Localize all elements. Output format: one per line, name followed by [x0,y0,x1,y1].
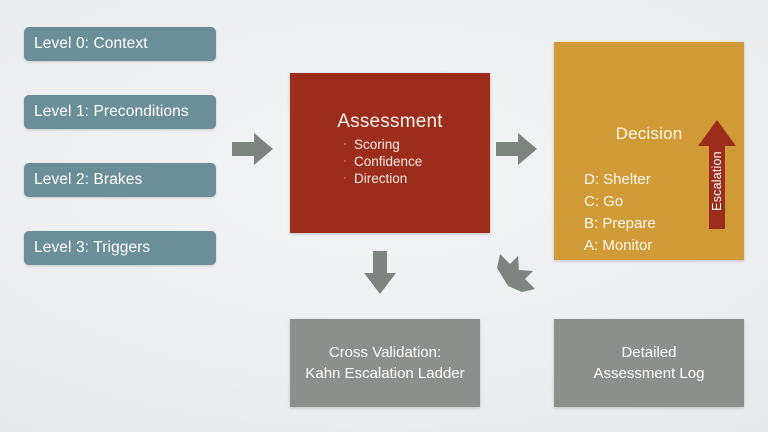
right-arrow-icon-levels-to-assessment [232,132,274,166]
bullet-dot-icon [344,160,346,162]
decision-option: A: Monitor [584,235,656,257]
diagonal-down-right-arrow-icon-decision-to-log [492,247,542,297]
level-pill-0[interactable]: Level 0: Context [24,27,216,61]
right-arrow-icon-assessment-to-decision [496,132,538,166]
decision-option: C: Go [584,191,656,213]
escalation-label: Escalation [710,151,724,211]
level-pill-1-label: Level 1: Preconditions [24,103,189,121]
level-pill-2[interactable]: Level 2: Brakes [24,163,216,197]
decision-option-list: D: Shelter C: Go B: Prepare A: Monitor [584,169,656,257]
assessment-log-line-1: Detailed [621,342,676,363]
cross-validation-line-1: Cross Validation: [329,342,441,363]
decision-box[interactable]: Decision D: Shelter C: Go B: Prepare A: … [554,42,744,260]
assessment-item-list: Scoring Confidence Direction [344,136,454,187]
assessment-item-label: Confidence [354,154,422,169]
level-pill-2-label: Level 2: Brakes [24,171,142,189]
assessment-item: Direction [344,170,454,187]
assessment-log-box[interactable]: Detailed Assessment Log [554,319,744,407]
assessment-item-label: Scoring [354,137,400,152]
bullet-dot-icon [344,143,346,145]
level-pill-3-label: Level 3: Triggers [24,239,150,257]
assessment-box[interactable]: Assessment Scoring Confidence Direction [290,73,490,233]
assessment-log-line-2: Assessment Log [594,363,705,384]
assessment-title: Assessment [337,111,442,133]
decision-option: D: Shelter [584,169,656,191]
bullet-dot-icon [344,177,346,179]
down-arrow-icon-assessment-to-cross-validation [363,251,397,295]
level-pill-1[interactable]: Level 1: Preconditions [24,95,216,129]
assessment-item-label: Direction [354,171,407,186]
cross-validation-line-2: Kahn Escalation Ladder [305,363,464,384]
assessment-item: Scoring [344,136,454,153]
cross-validation-box[interactable]: Cross Validation: Kahn Escalation Ladder [290,319,480,407]
decision-option: B: Prepare [584,213,656,235]
level-pill-0-label: Level 0: Context [24,35,148,53]
assessment-item: Confidence [344,153,454,170]
slide-canvas: Level 0: Context Level 1: Preconditions … [0,0,768,432]
escalation-label-wrap: Escalation [697,120,737,230]
level-pill-3[interactable]: Level 3: Triggers [24,231,216,265]
